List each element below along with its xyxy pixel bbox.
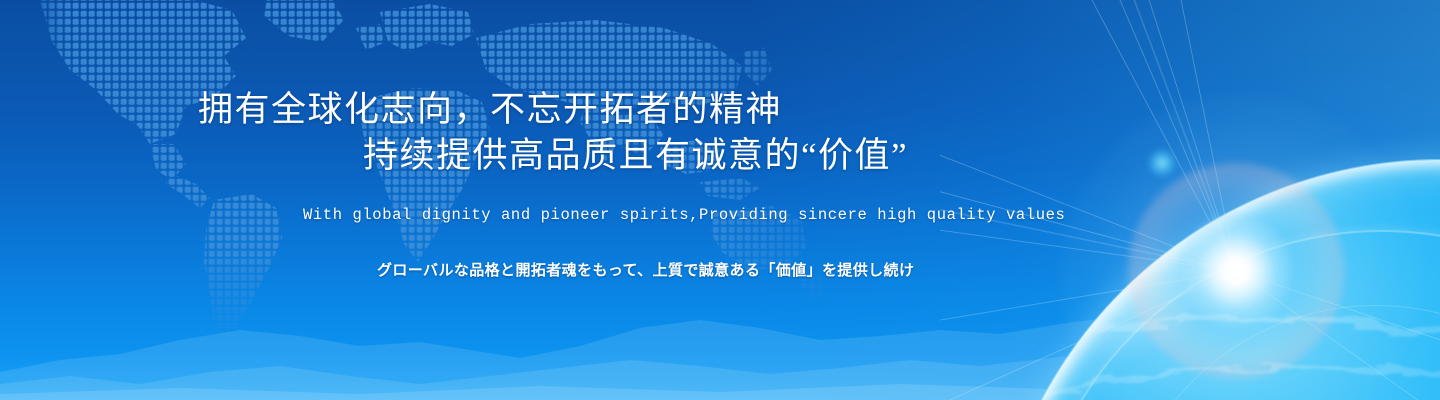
subtitle-english: With global dignity and pioneer spirits,… [303,206,1065,224]
headline-line-2: 持续提供高品质且有诚意的“价值” [363,138,908,173]
subtitle-japanese: グローバルな品格と開拓者魂をもって、上質で誠意ある「価値」を提供し続け [377,259,914,280]
banner-copy: 拥有全球化志向，不忘开拓者的精神 持续提供高品质且有诚意的“价值” With g… [0,0,1160,400]
headline-line-1: 拥有全球化志向，不忘开拓者的精神 [198,92,782,127]
sun-core [1178,213,1294,329]
hero-banner: 拥有全球化志向，不忘开拓者的精神 持续提供高品质且有诚意的“价值” With g… [0,0,1440,400]
